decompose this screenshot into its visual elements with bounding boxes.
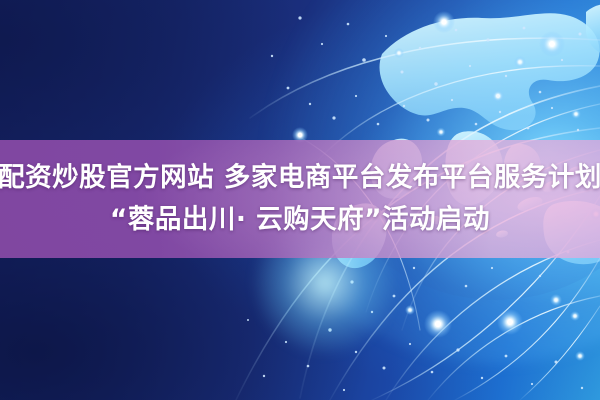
headline-line-2: “蓉品出川· 云购天府”活动启动 bbox=[110, 200, 490, 240]
headline-line-1: 配资炒股官方网站 多家电商平台发布平台服务计划 bbox=[0, 158, 600, 198]
headline-text-block: 配资炒股官方网站 多家电商平台发布平台服务计划 “蓉品出川· 云购天府”活动启动 bbox=[0, 140, 600, 258]
banner-image: 配资炒股官方网站 多家电商平台发布平台服务计划 “蓉品出川· 云购天府”活动启动 bbox=[0, 0, 600, 400]
